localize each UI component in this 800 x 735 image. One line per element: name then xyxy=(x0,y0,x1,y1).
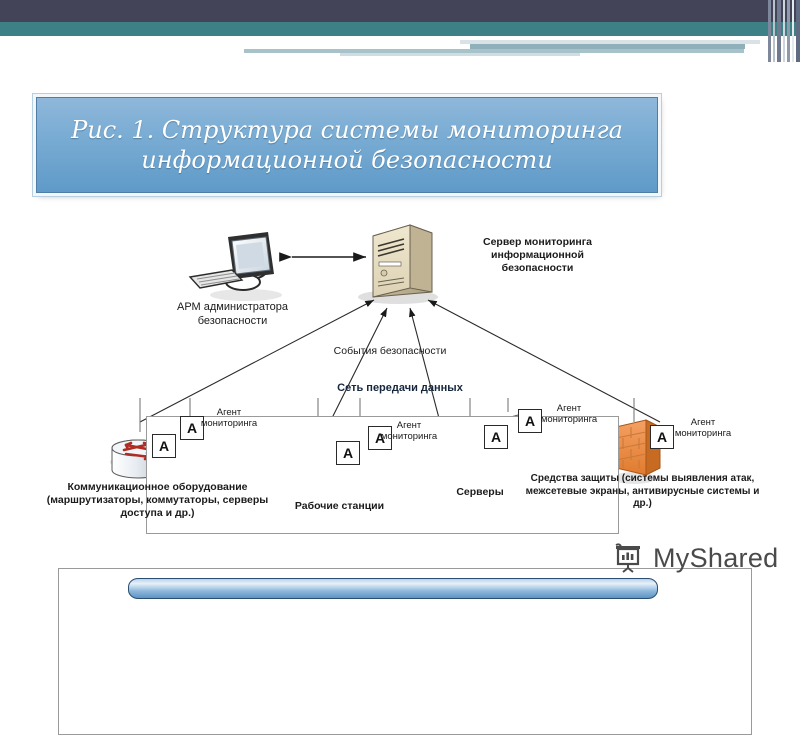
myshared-watermark: MyShared xyxy=(612,541,778,575)
agent-label-routers: Агент мониторинга xyxy=(198,407,260,430)
watermark-text: MyShared xyxy=(653,543,778,574)
workstations-label: Рабочие станции xyxy=(272,500,407,513)
security-events-label: События безопасности xyxy=(290,345,490,358)
header-teal-band xyxy=(0,22,800,36)
agent-label-workstations: Агент мониторинга xyxy=(378,420,440,443)
monitoring-server-icon xyxy=(358,225,438,304)
admin-workstation-icon xyxy=(190,232,282,301)
page-title: Рис. 1. Структура системы мониторинга ин… xyxy=(37,115,657,175)
monitoring-server-label: Сервер мониторинга информационной безопа… xyxy=(455,236,620,275)
communication-equipment-label: Коммуникационное оборудование (маршрутиз… xyxy=(45,481,270,520)
data-network-bar xyxy=(128,578,658,599)
header-vertical-stripes xyxy=(766,0,800,62)
data-network-label: Сеть передачи данных xyxy=(130,382,670,396)
header-accent-line-4 xyxy=(340,53,580,56)
presentation-chart-icon xyxy=(612,541,646,575)
agent-badge-ws-1: A xyxy=(336,441,360,465)
servers-label: Серверы xyxy=(440,486,520,499)
slide-title-banner: Рис. 1. Структура системы мониторинга ин… xyxy=(36,97,658,193)
agent-badge-srv-1: A xyxy=(484,425,508,449)
agent-label-firewall: Агент мониторинга xyxy=(672,417,734,440)
defense-tools-label: Средства защиты (системы выявления атак,… xyxy=(520,473,765,511)
agent-badge-router-1: A xyxy=(152,434,176,458)
agent-badge-firewall: A xyxy=(650,425,674,449)
admin-workstation-label: АРМ администратора безопасности xyxy=(150,301,315,329)
header-dark-band xyxy=(0,0,800,22)
agent-label-servers: Агент мониторинга xyxy=(538,403,600,426)
